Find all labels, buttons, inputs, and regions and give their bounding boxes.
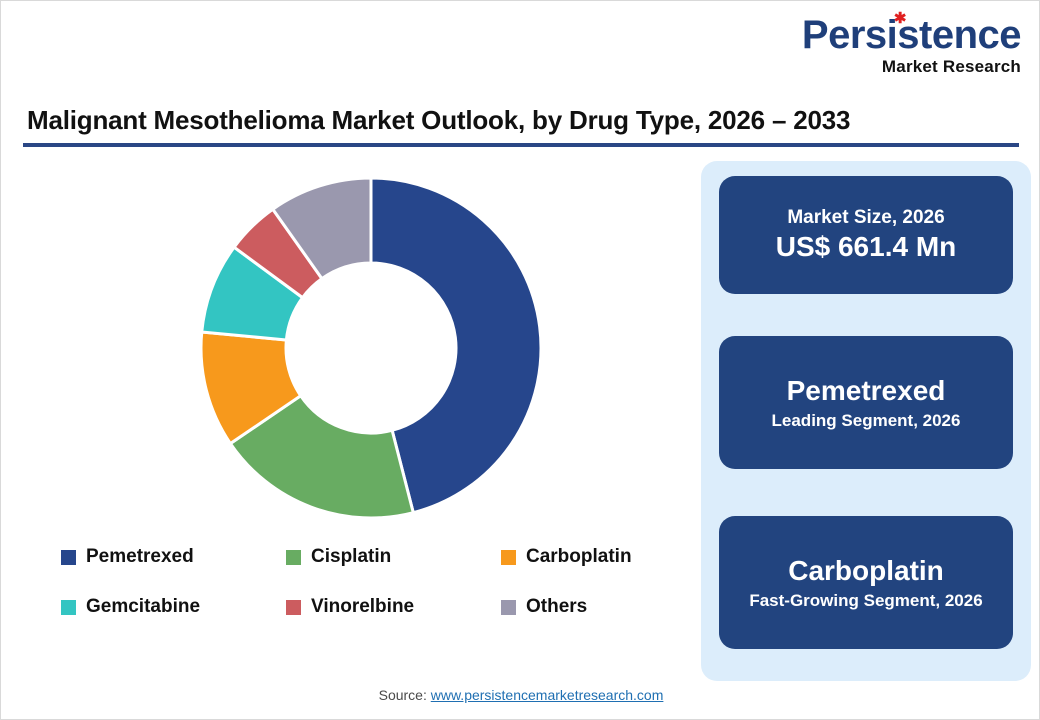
donut-slice-group [201, 178, 541, 518]
kpi-card-label: Leading Segment, 2026 [772, 410, 961, 432]
logo-brand-text: Persistence ✱ [802, 15, 1021, 55]
legend-item-carboplatin: Carboplatin [501, 546, 681, 568]
kpi-card-value: Pemetrexed [787, 373, 946, 409]
legend-label: Carboplatin [526, 546, 632, 568]
page-title: Malignant Mesothelioma Market Outlook, b… [27, 105, 987, 136]
legend-swatch-icon [501, 550, 516, 565]
kpi-card-leading-segment: Pemetrexed Leading Segment, 2026 [719, 336, 1013, 469]
legend-label: Vinorelbine [311, 596, 414, 618]
legend-swatch-icon [61, 550, 76, 565]
infographic-page: Persistence ✱ Market Research Malignant … [0, 0, 1040, 720]
kpi-card-label: Fast-Growing Segment, 2026 [749, 590, 982, 612]
legend-label: Cisplatin [311, 546, 391, 568]
legend-label: Others [526, 596, 587, 618]
company-logo: Persistence ✱ Market Research [802, 15, 1021, 75]
kpi-card-fast-growing-segment: Carboplatin Fast-Growing Segment, 2026 [719, 516, 1013, 649]
asterisk-icon: ✱ [894, 13, 905, 24]
source-link[interactable]: www.persistencemarketresearch.com [431, 687, 664, 703]
kpi-panel: Market Size, 2026 US$ 661.4 Mn Pemetrexe… [701, 161, 1031, 681]
legend-label: Gemcitabine [86, 596, 200, 618]
kpi-card-label: Market Size, 2026 [787, 206, 944, 230]
legend-item-gemcitabine: Gemcitabine [61, 596, 286, 618]
legend-swatch-icon [501, 600, 516, 615]
legend-swatch-icon [61, 600, 76, 615]
kpi-card-value: US$ 661.4 Mn [776, 229, 957, 264]
legend-item-cisplatin: Cisplatin [286, 546, 501, 568]
kpi-card-value: Carboplatin [788, 553, 944, 589]
legend-label: Pemetrexed [86, 546, 194, 568]
source-label: Source: [379, 687, 431, 703]
legend-swatch-icon [286, 600, 301, 615]
title-divider [23, 143, 1019, 147]
logo-brand-label: Persistence [802, 13, 1021, 57]
legend-item-vinorelbine: Vinorelbine [286, 596, 501, 618]
source-line: Source: www.persistencemarketresearch.co… [1, 687, 1040, 703]
logo-tagline: Market Research [802, 58, 1021, 75]
legend-item-pemetrexed: Pemetrexed [61, 546, 286, 568]
donut-chart-svg [191, 168, 551, 528]
legend-swatch-icon [286, 550, 301, 565]
legend-item-others: Others [501, 596, 681, 618]
chart-legend: Pemetrexed Cisplatin Carboplatin Gemcita… [61, 546, 681, 618]
kpi-card-market-size: Market Size, 2026 US$ 661.4 Mn [719, 176, 1013, 294]
donut-chart [191, 168, 551, 528]
